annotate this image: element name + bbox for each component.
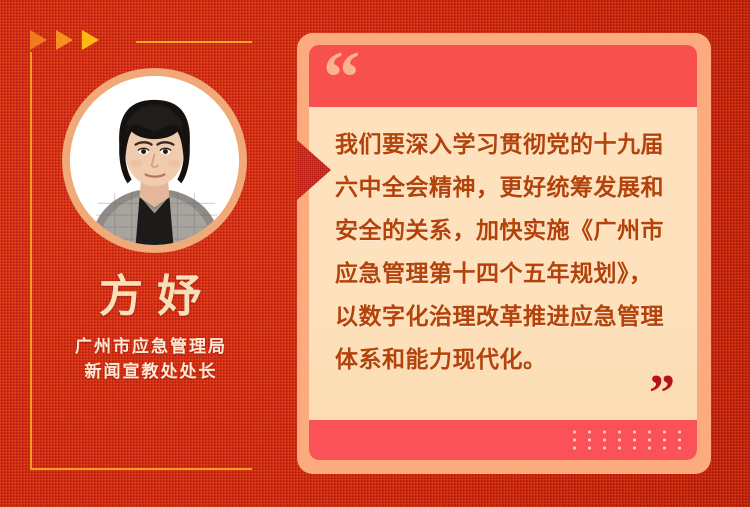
avatar [62,68,247,253]
triangle-arrow-icon [30,30,47,50]
quote-card: “ 我们要深入学习贯彻党的十九届六中全会精神，更好统筹发展和安全的关系，加快实施… [297,33,711,474]
portrait-illustration [70,76,239,245]
triangle-arrow-icon [82,30,99,50]
quote-card-footer [309,420,697,460]
quote-panel: “ 我们要深入学习贯彻党的十九届六中全会精神，更好统筹发展和安全的关系，加快实施… [309,45,697,460]
avatar-image [70,76,239,245]
person-title-line-1: 广州市应急管理局 [0,334,300,359]
quote-card-header: “ [309,45,697,107]
quote-card-body: 我们要深入学习贯彻党的十九届六中全会精神，更好统筹发展和安全的关系，加快实施《广… [309,107,697,420]
person-name: 方妤 [0,260,300,324]
person-title: 广州市应急管理局 新闻宣教处处长 [0,334,300,384]
poster-canvas: 方妤 广州市应急管理局 新闻宣教处处长 “ 我们要深入学习贯彻党的十九届六中全会… [0,0,750,507]
triangle-arrow-icon [56,30,73,50]
open-quote-icon: “ [323,45,360,115]
quote-text: 我们要深入学习贯彻党的十九届六中全会精神，更好统筹发展和安全的关系，加快实施《广… [335,123,675,381]
arrow-group [30,30,99,50]
person-title-line-2: 新闻宣教处处长 [0,359,300,384]
close-quote-icon: ” [649,368,675,420]
dot-grid-pattern [567,426,685,454]
top-rule-divider [136,41,252,43]
frame-horizontal-line [30,468,252,470]
